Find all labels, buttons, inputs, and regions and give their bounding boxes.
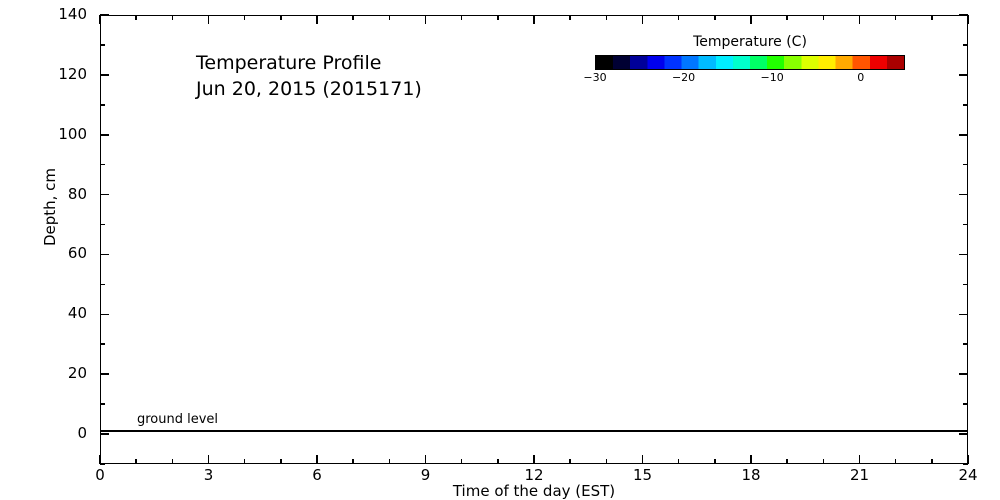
x-tick-top (642, 15, 644, 24)
y-tick (100, 433, 109, 435)
x-minor-tick-top (714, 15, 716, 20)
x-minor-tick (823, 459, 825, 464)
x-tick (425, 455, 427, 464)
y-minor-tick-right (963, 403, 968, 405)
x-tick-top (967, 15, 969, 24)
x-minor-tick (280, 459, 282, 464)
x-minor-tick-top (244, 15, 246, 20)
y-tick (100, 254, 109, 256)
colorbar-tick-label: −10 (742, 72, 802, 83)
colorbar-tick-label: 0 (831, 72, 891, 83)
x-minor-tick-top (461, 15, 463, 20)
x-tick-top (208, 15, 210, 24)
y-tick (100, 134, 109, 136)
x-minor-tick-top (172, 15, 174, 20)
chart-subtitle: Jun 20, 2015 (2015171) (196, 76, 422, 102)
x-minor-tick (389, 459, 391, 464)
y-minor-tick-right (963, 44, 968, 46)
y-minor-tick-right (963, 284, 968, 286)
y-tick-label: 100 (58, 127, 87, 142)
x-minor-tick (569, 459, 571, 464)
x-tick-top (425, 15, 427, 24)
x-minor-tick (714, 459, 716, 464)
x-tick (316, 455, 318, 464)
ground-level-line (101, 430, 967, 432)
y-minor-tick-right (963, 104, 968, 106)
x-minor-tick-top (135, 15, 137, 20)
x-minor-tick-top (497, 15, 499, 20)
y-tick-label: 140 (58, 7, 87, 22)
y-minor-tick (100, 164, 105, 166)
y-tick (100, 314, 109, 316)
x-tick-top (750, 15, 752, 24)
y-axis-title: Depth, cm (41, 137, 59, 277)
chart-title-block: Temperature Profile Jun 20, 2015 (201517… (196, 50, 422, 102)
x-minor-tick (678, 459, 680, 464)
x-minor-tick-top (569, 15, 571, 20)
y-tick-label: 20 (68, 366, 87, 381)
x-minor-tick (786, 459, 788, 464)
x-tick (208, 455, 210, 464)
x-minor-tick-top (823, 15, 825, 20)
x-tick-label: 15 (603, 468, 683, 483)
x-minor-tick (895, 459, 897, 464)
y-minor-tick (100, 403, 105, 405)
x-tick-top (533, 15, 535, 24)
x-minor-tick (172, 459, 174, 464)
y-tick-label: 60 (68, 246, 87, 261)
y-tick (100, 194, 109, 196)
x-minor-tick (352, 459, 354, 464)
x-minor-tick (931, 459, 933, 464)
x-tick-top (99, 15, 101, 24)
x-tick (99, 455, 101, 464)
y-tick-label: 80 (68, 187, 87, 202)
x-minor-tick-top (678, 15, 680, 20)
y-tick-label: 0 (77, 426, 87, 441)
y-minor-tick (100, 44, 105, 46)
x-minor-tick-top (931, 15, 933, 20)
y-tick-right (959, 134, 968, 136)
x-tick (642, 455, 644, 464)
x-tick-label: 9 (386, 468, 466, 483)
x-minor-tick-top (389, 15, 391, 20)
x-tick-label: 18 (711, 468, 791, 483)
x-tick-label: 3 (169, 468, 249, 483)
y-tick (100, 14, 109, 16)
x-minor-tick-top (786, 15, 788, 20)
chart-title: Temperature Profile (196, 50, 422, 76)
x-tick-label: 0 (60, 468, 140, 483)
temperature-profile-chart: ground level Temperature Profile Jun 20,… (0, 0, 1000, 500)
colorbar-title: Temperature (C) (595, 34, 905, 50)
y-tick-right (959, 74, 968, 76)
colorbar-gradient (595, 55, 905, 70)
x-tick (750, 455, 752, 464)
x-tick (533, 455, 535, 464)
x-tick (859, 455, 861, 464)
y-minor-tick (100, 343, 105, 345)
colorbar-tick-label: −30 (565, 72, 625, 83)
x-tick-top (859, 15, 861, 24)
x-minor-tick (244, 459, 246, 464)
x-tick-label: 24 (928, 468, 1000, 483)
y-tick-right (959, 194, 968, 196)
y-minor-tick (100, 104, 105, 106)
x-tick-label: 6 (277, 468, 357, 483)
y-tick-right (959, 433, 968, 435)
y-minor-tick (100, 284, 105, 286)
x-tick-label: 21 (820, 468, 900, 483)
x-tick-top (316, 15, 318, 24)
x-minor-tick (497, 459, 499, 464)
x-minor-tick (135, 459, 137, 464)
y-tick-right (959, 373, 968, 375)
x-minor-tick (461, 459, 463, 464)
colorbar-tick-label: −20 (654, 72, 714, 83)
y-minor-tick-right (963, 224, 968, 226)
x-tick (967, 455, 969, 464)
y-tick-right (959, 254, 968, 256)
y-minor-tick-right (963, 343, 968, 345)
x-minor-tick-top (280, 15, 282, 20)
x-tick-label: 12 (494, 468, 574, 483)
x-minor-tick (606, 459, 608, 464)
y-tick (100, 74, 109, 76)
y-tick (100, 373, 109, 375)
ground-level-label: ground level (137, 412, 218, 427)
x-minor-tick-top (895, 15, 897, 20)
y-tick-label: 120 (58, 67, 87, 82)
x-minor-tick-top (606, 15, 608, 20)
x-minor-tick-top (352, 15, 354, 20)
y-tick-label: 40 (68, 306, 87, 321)
x-axis-title: Time of the day (EST) (100, 482, 968, 500)
y-minor-tick (100, 224, 105, 226)
y-minor-tick-right (963, 164, 968, 166)
y-tick-right (959, 314, 968, 316)
